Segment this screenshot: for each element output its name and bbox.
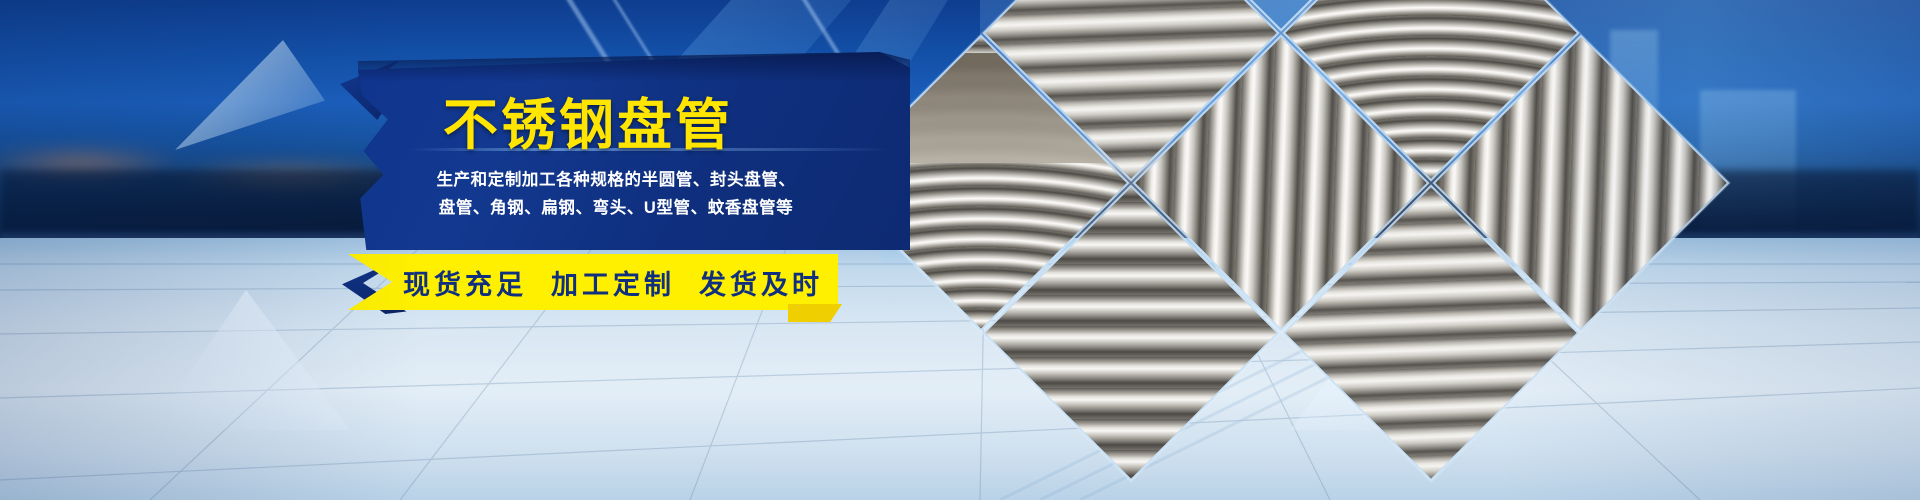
page-title: 不锈钢盘管: [443, 96, 863, 156]
subtitle-line-1: 生产和定制加工各种规格的半圆管、封头盘管、: [356, 166, 876, 194]
product-banner: 不锈钢盘管 生产和定制加工各种规格的半圆管、封头盘管、 盘管、角钢、扁钢、弯头、…: [0, 0, 1920, 500]
ribbon-item-2: 加工定制: [551, 263, 675, 302]
ribbon-item-1: 现货充足: [403, 263, 527, 302]
product-photo-collage: [836, 0, 1436, 500]
ribbon-item-3: 发货及时: [699, 263, 823, 302]
subtitle: 生产和定制加工各种规格的半圆管、封头盘管、 盘管、角钢、扁钢、弯头、U型管、蚊香…: [356, 166, 876, 222]
subtitle-line-2: 盘管、角钢、扁钢、弯头、U型管、蚊香盘管等: [356, 194, 876, 222]
feature-ribbon: 现货充足 加工定制 发货及时: [348, 254, 848, 312]
ribbon-text-group: 现货充足 加工定制 发货及时: [398, 254, 828, 310]
panel-top-shade: [358, 52, 910, 82]
